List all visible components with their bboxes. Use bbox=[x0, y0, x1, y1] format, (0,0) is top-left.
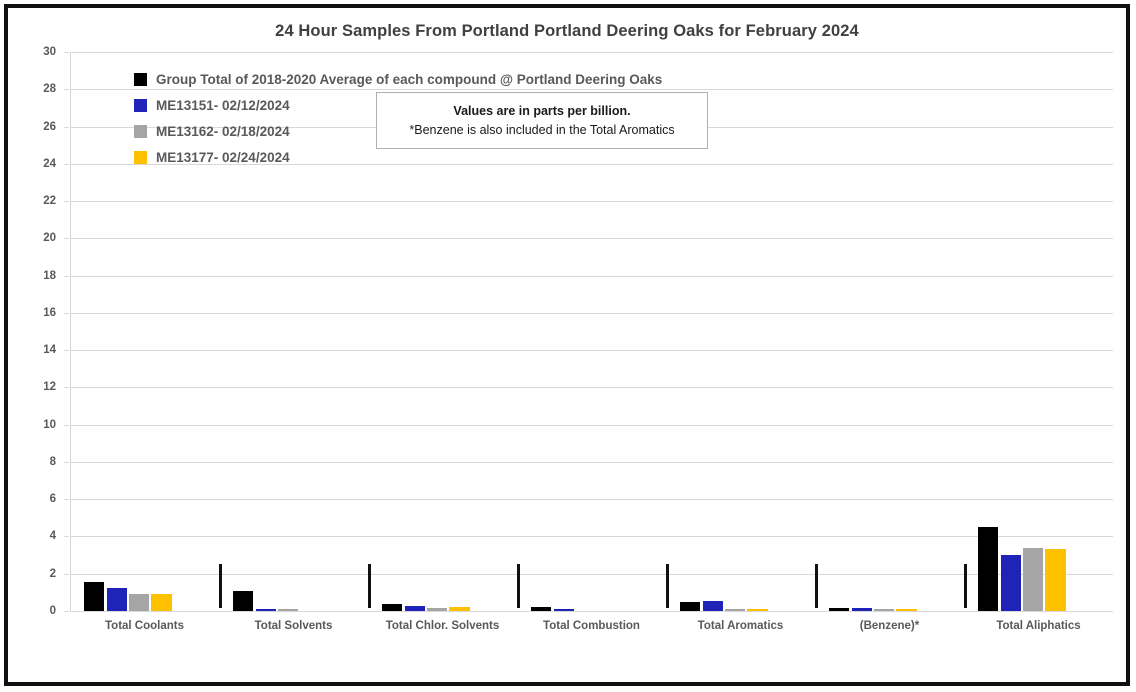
y-axis-tick-mark bbox=[64, 238, 69, 239]
bar[interactable] bbox=[725, 609, 745, 611]
bar[interactable] bbox=[107, 588, 127, 611]
bar[interactable] bbox=[233, 591, 253, 611]
y-axis-tick-mark bbox=[64, 201, 69, 202]
y-axis-tick-mark bbox=[64, 536, 69, 537]
legend-swatch-icon bbox=[134, 151, 147, 164]
y-axis-tick-mark bbox=[64, 425, 69, 426]
legend-item-label: ME13177- 02/24/2024 bbox=[156, 150, 290, 165]
legend-item-label: ME13162- 02/18/2024 bbox=[156, 124, 290, 139]
y-axis-tick-mark bbox=[64, 387, 69, 388]
y-axis-tick-label: 14 bbox=[22, 344, 56, 356]
bar[interactable] bbox=[382, 604, 402, 611]
y-axis-tick-mark bbox=[64, 462, 69, 463]
note-line-2: *Benzene is also included in the Total A… bbox=[409, 121, 674, 139]
bar[interactable] bbox=[405, 606, 425, 611]
bar[interactable] bbox=[278, 609, 298, 611]
y-axis-tick-label: 30 bbox=[22, 46, 56, 58]
y-axis-tick-label: 24 bbox=[22, 158, 56, 170]
y-axis-tick-mark bbox=[64, 499, 69, 500]
bar[interactable] bbox=[151, 594, 171, 611]
chart-frame: 24 Hour Samples From Portland Portland D… bbox=[4, 4, 1130, 686]
bar[interactable] bbox=[703, 601, 723, 611]
bar[interactable] bbox=[852, 608, 872, 611]
y-axis-tick-mark bbox=[64, 574, 69, 575]
legend-item[interactable]: Group Total of 2018-2020 Average of each… bbox=[134, 66, 662, 92]
y-axis-tick-label: 22 bbox=[22, 195, 56, 207]
bar[interactable] bbox=[874, 609, 894, 611]
y-axis-tick-mark bbox=[64, 313, 69, 314]
y-axis-tick-label: 8 bbox=[22, 456, 56, 468]
legend-item-label: ME13151- 02/12/2024 bbox=[156, 98, 290, 113]
y-axis-tick-mark bbox=[64, 164, 69, 165]
y-axis-tick-mark bbox=[64, 52, 69, 53]
legend-item-label: Group Total of 2018-2020 Average of each… bbox=[156, 72, 662, 87]
y-axis-tick-label: 6 bbox=[22, 493, 56, 505]
bar[interactable] bbox=[256, 609, 276, 611]
x-axis-category-label: Total Chlor. Solvents bbox=[386, 620, 500, 632]
chart-canvas: 24 Hour Samples From Portland Portland D… bbox=[8, 8, 1126, 682]
x-axis-category-label: Total Combustion bbox=[543, 620, 640, 632]
x-axis-category-separator bbox=[815, 564, 818, 608]
x-axis-category-separator bbox=[219, 564, 222, 608]
bar-group bbox=[964, 52, 1113, 611]
x-axis-category-separator bbox=[964, 564, 967, 608]
x-axis-category-separator bbox=[666, 564, 669, 608]
bar[interactable] bbox=[449, 607, 469, 611]
y-axis-tick-label: 0 bbox=[22, 605, 56, 617]
bar[interactable] bbox=[1001, 555, 1021, 611]
y-axis-tick-label: 2 bbox=[22, 568, 56, 580]
bar[interactable] bbox=[829, 608, 849, 611]
note-line-1: Values are in parts per billion. bbox=[453, 102, 630, 120]
y-axis-tick-mark bbox=[64, 350, 69, 351]
legend-swatch-icon bbox=[134, 99, 147, 112]
y-axis-tick-label: 18 bbox=[22, 270, 56, 282]
legend-swatch-icon bbox=[134, 125, 147, 138]
bar-group bbox=[815, 52, 964, 611]
bar[interactable] bbox=[978, 527, 998, 611]
gridline bbox=[70, 611, 1113, 612]
x-axis-category-label: Total Aliphatics bbox=[996, 620, 1080, 632]
bar[interactable] bbox=[1023, 548, 1043, 611]
x-axis-category-label: Total Solvents bbox=[255, 620, 333, 632]
bar[interactable] bbox=[129, 594, 149, 611]
x-axis-category-label: Total Coolants bbox=[105, 620, 184, 632]
legend-swatch-icon bbox=[134, 73, 147, 86]
bar[interactable] bbox=[896, 609, 916, 611]
y-axis-tick-label: 16 bbox=[22, 307, 56, 319]
bar[interactable] bbox=[427, 608, 447, 611]
x-axis-category-separator bbox=[517, 564, 520, 608]
y-axis-tick-label: 10 bbox=[22, 419, 56, 431]
bar[interactable] bbox=[531, 607, 551, 611]
note-textbox: Values are in parts per billion. *Benzen… bbox=[376, 92, 708, 149]
bar[interactable] bbox=[1045, 549, 1065, 611]
y-axis-tick-label: 12 bbox=[22, 381, 56, 393]
x-axis-category-separator bbox=[368, 564, 371, 608]
bar[interactable] bbox=[554, 609, 574, 611]
chart-title: 24 Hour Samples From Portland Portland D… bbox=[8, 22, 1126, 41]
bar[interactable] bbox=[84, 582, 104, 611]
x-axis-category-label: (Benzene)* bbox=[860, 620, 919, 632]
y-axis-tick-label: 28 bbox=[22, 83, 56, 95]
bar[interactable] bbox=[747, 609, 767, 611]
y-axis-tick-label: 26 bbox=[22, 121, 56, 133]
x-axis-category-label: Total Aromatics bbox=[698, 620, 784, 632]
bar[interactable] bbox=[680, 602, 700, 611]
y-axis-tick-mark bbox=[64, 89, 69, 90]
y-axis-tick-mark bbox=[64, 611, 69, 612]
y-axis-tick-label: 4 bbox=[22, 530, 56, 542]
y-axis-tick-mark bbox=[64, 127, 69, 128]
y-axis-tick-label: 20 bbox=[22, 232, 56, 244]
y-axis-tick-mark bbox=[64, 276, 69, 277]
